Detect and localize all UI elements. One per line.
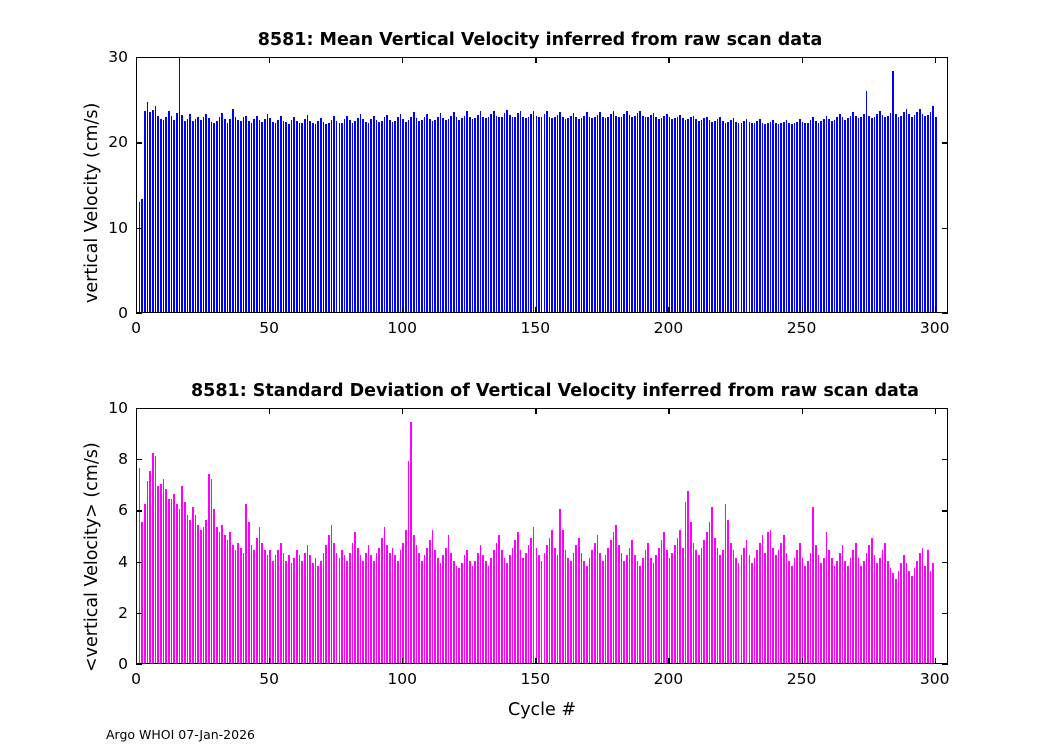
bar — [594, 117, 596, 312]
bar — [735, 122, 737, 312]
bar — [895, 579, 897, 663]
bar — [426, 114, 428, 312]
y-tick-label: 30 — [84, 48, 128, 66]
bar — [192, 507, 194, 663]
bar — [173, 494, 175, 663]
bar — [927, 115, 929, 312]
bar — [908, 114, 910, 312]
bar — [844, 561, 846, 663]
bar — [767, 123, 769, 312]
bar — [722, 121, 724, 312]
bar — [357, 118, 359, 312]
bar — [147, 481, 149, 663]
bar — [559, 509, 561, 663]
bar — [703, 118, 705, 312]
bar — [788, 561, 790, 663]
bar — [195, 515, 197, 663]
bar — [536, 548, 538, 663]
bar — [402, 119, 404, 312]
bar — [184, 121, 186, 312]
x-tick-mark — [935, 658, 936, 664]
bar — [317, 121, 319, 312]
bar — [195, 119, 197, 312]
bar — [892, 71, 894, 312]
bar — [216, 121, 218, 312]
x-tick-mark — [402, 408, 403, 414]
bar — [711, 122, 713, 312]
figure-container: 8581: Mean Vertical Velocity inferred fr… — [0, 0, 1050, 750]
bar — [863, 561, 865, 663]
bar — [458, 568, 460, 663]
bar — [525, 553, 527, 663]
x-tick-mark — [668, 408, 669, 414]
bar — [567, 118, 569, 312]
bar — [275, 555, 277, 663]
bar — [932, 106, 934, 313]
bar — [496, 116, 498, 312]
bar — [866, 91, 868, 312]
bar — [405, 530, 407, 663]
bar — [299, 123, 301, 312]
bar — [610, 114, 612, 312]
y-tick-mark — [942, 664, 948, 665]
bar — [706, 532, 708, 663]
bar — [546, 545, 548, 663]
bar — [213, 509, 215, 663]
y-tick-mark — [942, 562, 948, 563]
bar — [232, 109, 234, 312]
bar — [658, 119, 660, 312]
bar — [733, 550, 735, 663]
bar — [639, 111, 641, 312]
x-tick-label: 50 — [259, 670, 279, 688]
bar — [400, 550, 402, 663]
bar — [176, 504, 178, 663]
bar — [163, 479, 165, 663]
bar — [741, 555, 743, 663]
bar — [884, 117, 886, 312]
bar — [307, 115, 309, 312]
bar — [780, 123, 782, 312]
bar — [421, 120, 423, 312]
bar — [903, 555, 905, 663]
bar — [780, 543, 782, 663]
y-tick-mark — [942, 613, 948, 614]
bar — [184, 502, 186, 663]
bar — [725, 123, 727, 312]
bar — [653, 113, 655, 312]
bar — [197, 525, 199, 663]
bar — [679, 115, 681, 312]
bar — [235, 117, 237, 312]
bar — [551, 530, 553, 663]
bar — [259, 120, 261, 312]
bar — [221, 113, 223, 312]
bar — [493, 111, 495, 312]
bar — [205, 114, 207, 312]
bar — [786, 120, 788, 312]
bar — [842, 117, 844, 312]
bar — [908, 571, 910, 663]
bar — [783, 535, 785, 663]
bar — [930, 112, 932, 312]
y-tick-mark — [942, 228, 948, 229]
bar — [192, 121, 194, 312]
bar — [549, 117, 551, 312]
bar — [352, 543, 354, 663]
bar — [613, 111, 615, 312]
x-tick-label: 50 — [259, 319, 279, 337]
bar — [879, 111, 881, 312]
bar — [615, 116, 617, 312]
bar — [650, 115, 652, 312]
bar — [410, 117, 412, 312]
bar — [187, 119, 189, 312]
bar — [762, 535, 764, 663]
bar — [456, 566, 458, 663]
bar — [719, 117, 721, 312]
bar — [701, 548, 703, 663]
bar — [283, 121, 285, 312]
bar — [528, 117, 530, 312]
y-tick-mark — [136, 408, 142, 409]
bar — [501, 550, 503, 663]
bar — [360, 555, 362, 663]
bar — [291, 563, 293, 663]
bar — [807, 561, 809, 663]
bar — [384, 527, 386, 663]
chart-title-std: 8581: Standard Deviation of Vertical Vel… — [60, 381, 1050, 401]
bar — [762, 123, 764, 312]
bar — [370, 119, 372, 312]
bar — [919, 109, 921, 312]
bar — [504, 113, 506, 312]
bar — [642, 116, 644, 312]
y-tick-mark — [942, 459, 948, 460]
bar — [291, 120, 293, 312]
bar — [424, 117, 426, 312]
bar — [924, 566, 926, 663]
bar — [280, 543, 282, 663]
bar — [168, 111, 170, 312]
bar — [272, 122, 274, 312]
bar — [325, 545, 327, 663]
x-tick-mark — [402, 57, 403, 63]
x-tick-mark — [269, 658, 270, 664]
bar — [211, 479, 213, 663]
bar — [581, 553, 583, 663]
bar — [722, 550, 724, 663]
chart-title-mean: 8581: Mean Vertical Velocity inferred fr… — [130, 30, 950, 50]
bar — [200, 530, 202, 663]
bar — [775, 123, 777, 312]
bar — [163, 120, 165, 312]
bar — [890, 568, 892, 663]
bar — [730, 120, 732, 312]
bar — [472, 119, 474, 312]
bar — [685, 120, 687, 312]
bar — [876, 114, 878, 312]
bar — [820, 563, 822, 663]
bar — [179, 509, 181, 663]
bar — [898, 571, 900, 663]
mean-velocity-bars — [137, 58, 947, 312]
bar — [586, 112, 588, 312]
bar — [650, 558, 652, 663]
bar — [466, 111, 468, 312]
bar — [344, 119, 346, 312]
bar — [764, 553, 766, 663]
bar — [751, 563, 753, 663]
bar — [602, 561, 604, 663]
bar — [834, 566, 836, 663]
bar — [413, 112, 415, 312]
bar — [200, 120, 202, 312]
bar — [203, 527, 205, 663]
bar — [171, 116, 173, 312]
bar — [389, 120, 391, 312]
bar — [488, 117, 490, 312]
bar — [911, 576, 913, 663]
bar — [397, 561, 399, 663]
bar — [916, 112, 918, 312]
bar — [453, 112, 455, 312]
bar — [594, 543, 596, 663]
bar — [847, 118, 849, 312]
bar — [165, 117, 167, 312]
bar — [341, 123, 343, 312]
bar — [312, 563, 314, 663]
bar — [477, 553, 479, 663]
bar — [189, 520, 191, 663]
bar — [245, 116, 247, 312]
bar — [165, 489, 167, 663]
bar — [597, 535, 599, 663]
bar — [331, 525, 333, 663]
bar — [679, 530, 681, 663]
bar — [597, 115, 599, 312]
bar — [629, 115, 631, 312]
bar — [674, 118, 676, 312]
y-tick-mark — [942, 408, 948, 409]
bar — [828, 550, 830, 663]
bar — [890, 113, 892, 312]
bar — [240, 121, 242, 312]
bar — [229, 119, 231, 312]
bar — [791, 566, 793, 663]
bar — [370, 555, 372, 663]
bar — [432, 530, 434, 663]
bar — [469, 117, 471, 312]
bar — [349, 553, 351, 663]
bar — [144, 504, 146, 663]
bar — [551, 118, 553, 312]
bar — [392, 122, 394, 312]
bar — [823, 558, 825, 663]
bar — [445, 120, 447, 312]
bar — [895, 114, 897, 312]
bar — [288, 555, 290, 663]
bar — [208, 118, 210, 312]
bar — [876, 563, 878, 663]
bar — [730, 543, 732, 663]
bar — [570, 116, 572, 312]
bar — [903, 112, 905, 312]
bar — [823, 119, 825, 312]
bar — [179, 58, 181, 312]
y-tick-mark — [942, 510, 948, 511]
bar — [871, 538, 873, 663]
bar — [714, 538, 716, 663]
bar — [320, 118, 322, 312]
x-tick-mark — [802, 658, 803, 664]
y-tick-mark — [942, 57, 948, 58]
bar — [818, 123, 820, 312]
bar — [243, 553, 245, 663]
bar — [418, 553, 420, 663]
bar — [285, 122, 287, 312]
bar — [674, 545, 676, 663]
bar — [653, 563, 655, 663]
bar — [480, 111, 482, 312]
bar — [346, 561, 348, 663]
bar — [663, 116, 665, 312]
bar — [842, 545, 844, 663]
bar — [810, 120, 812, 312]
bar — [472, 566, 474, 663]
bar — [623, 114, 625, 312]
bar — [384, 117, 386, 312]
bar — [450, 553, 452, 663]
bar — [751, 123, 753, 312]
bar — [426, 548, 428, 663]
bar — [642, 558, 644, 663]
bar — [392, 548, 394, 663]
x-tick-label: 150 — [521, 319, 551, 337]
bar — [863, 114, 865, 312]
bar — [261, 543, 263, 663]
bar — [416, 118, 418, 312]
bar — [352, 123, 354, 312]
bar — [610, 540, 612, 663]
bar — [325, 124, 327, 312]
bar — [629, 548, 631, 663]
bar — [788, 123, 790, 312]
bar — [267, 555, 269, 663]
bar — [504, 558, 506, 663]
bar — [887, 561, 889, 663]
bar — [453, 561, 455, 663]
bar — [378, 548, 380, 663]
bar — [812, 507, 814, 663]
bar — [735, 558, 737, 663]
bar — [562, 117, 564, 312]
bar — [802, 558, 804, 663]
bar — [434, 120, 436, 312]
bar — [693, 116, 695, 312]
bar — [733, 118, 735, 312]
bar — [354, 121, 356, 312]
bar — [530, 538, 532, 663]
bar — [448, 119, 450, 312]
bar — [349, 120, 351, 312]
bar — [882, 115, 884, 312]
y-tick-label: 10 — [84, 399, 128, 417]
bar — [852, 112, 854, 312]
bar — [802, 122, 804, 312]
bar — [288, 124, 290, 312]
bar — [522, 117, 524, 312]
bar — [850, 558, 852, 663]
std-velocity-xlabel: Cycle # — [508, 700, 576, 720]
bar — [655, 117, 657, 312]
bar — [914, 568, 916, 663]
bar — [623, 561, 625, 663]
bar — [501, 117, 503, 312]
bar — [512, 117, 514, 312]
y-tick-mark — [136, 664, 142, 665]
bar — [344, 555, 346, 663]
bar — [208, 474, 210, 663]
bar — [394, 121, 396, 312]
bar — [514, 540, 516, 663]
bar — [432, 121, 434, 312]
bar — [368, 123, 370, 312]
bar — [860, 566, 862, 663]
bar — [605, 555, 607, 663]
bar — [807, 123, 809, 312]
bar — [836, 561, 838, 663]
bar — [871, 118, 873, 312]
bar — [373, 561, 375, 663]
bar — [714, 121, 716, 312]
bar — [621, 553, 623, 663]
x-tick-label: 200 — [654, 319, 684, 337]
y-tick-mark — [136, 142, 142, 143]
bar — [437, 558, 439, 663]
bar — [312, 123, 314, 312]
bar — [256, 538, 258, 663]
bar — [538, 555, 540, 663]
bar — [669, 558, 671, 663]
bar — [669, 117, 671, 312]
bar — [424, 555, 426, 663]
bar — [756, 121, 758, 312]
bar — [567, 558, 569, 663]
bar — [160, 119, 162, 312]
std-velocity-ylabel: <vertical Velocity> (cm/s) — [82, 442, 102, 672]
y-tick-mark — [136, 313, 142, 314]
bar — [778, 550, 780, 663]
bar — [868, 116, 870, 312]
bar — [682, 548, 684, 663]
bar — [421, 561, 423, 663]
x-tick-mark — [802, 57, 803, 63]
bar — [874, 117, 876, 312]
bar — [400, 114, 402, 312]
x-tick-mark — [802, 307, 803, 313]
bar — [413, 535, 415, 663]
x-tick-label: 300 — [920, 670, 950, 688]
bar — [930, 571, 932, 663]
bar — [299, 555, 301, 663]
bar — [485, 118, 487, 312]
bar — [682, 118, 684, 312]
bar — [727, 122, 729, 312]
x-tick-mark — [668, 307, 669, 313]
bar — [858, 118, 860, 312]
x-tick-label: 100 — [387, 670, 417, 688]
